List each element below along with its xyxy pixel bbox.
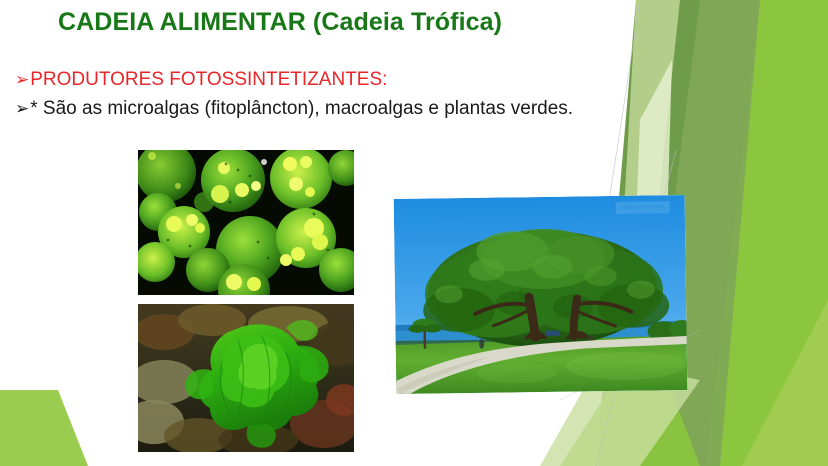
slide-title: CADEIA ALIMENTAR (Cadeia Trófica) — [58, 8, 598, 37]
macroalgae-photo — [138, 304, 354, 452]
tree-photo — [394, 195, 688, 394]
presentation-slide: CADEIA ALIMENTAR (Cadeia Trófica) ➢ PROD… — [0, 0, 828, 466]
microalgae-photo — [138, 150, 354, 295]
arrow-bullet-icon: ➢ — [15, 71, 29, 88]
bullet-text-producers: PRODUTORES FOTOSSINTETIZANTES: — [30, 70, 387, 91]
bullet-item-producers: ➢ PRODUTORES FOTOSSINTETIZANTES: — [15, 70, 387, 91]
arrow-bullet-icon: ➢ — [15, 100, 29, 117]
bullet-text-description: * São as microalgas (fitoplâncton), macr… — [30, 99, 573, 120]
watermark-decoration — [616, 201, 670, 214]
bullet-item-description: ➢ * São as microalgas (fitoplâncton), ma… — [15, 99, 573, 120]
